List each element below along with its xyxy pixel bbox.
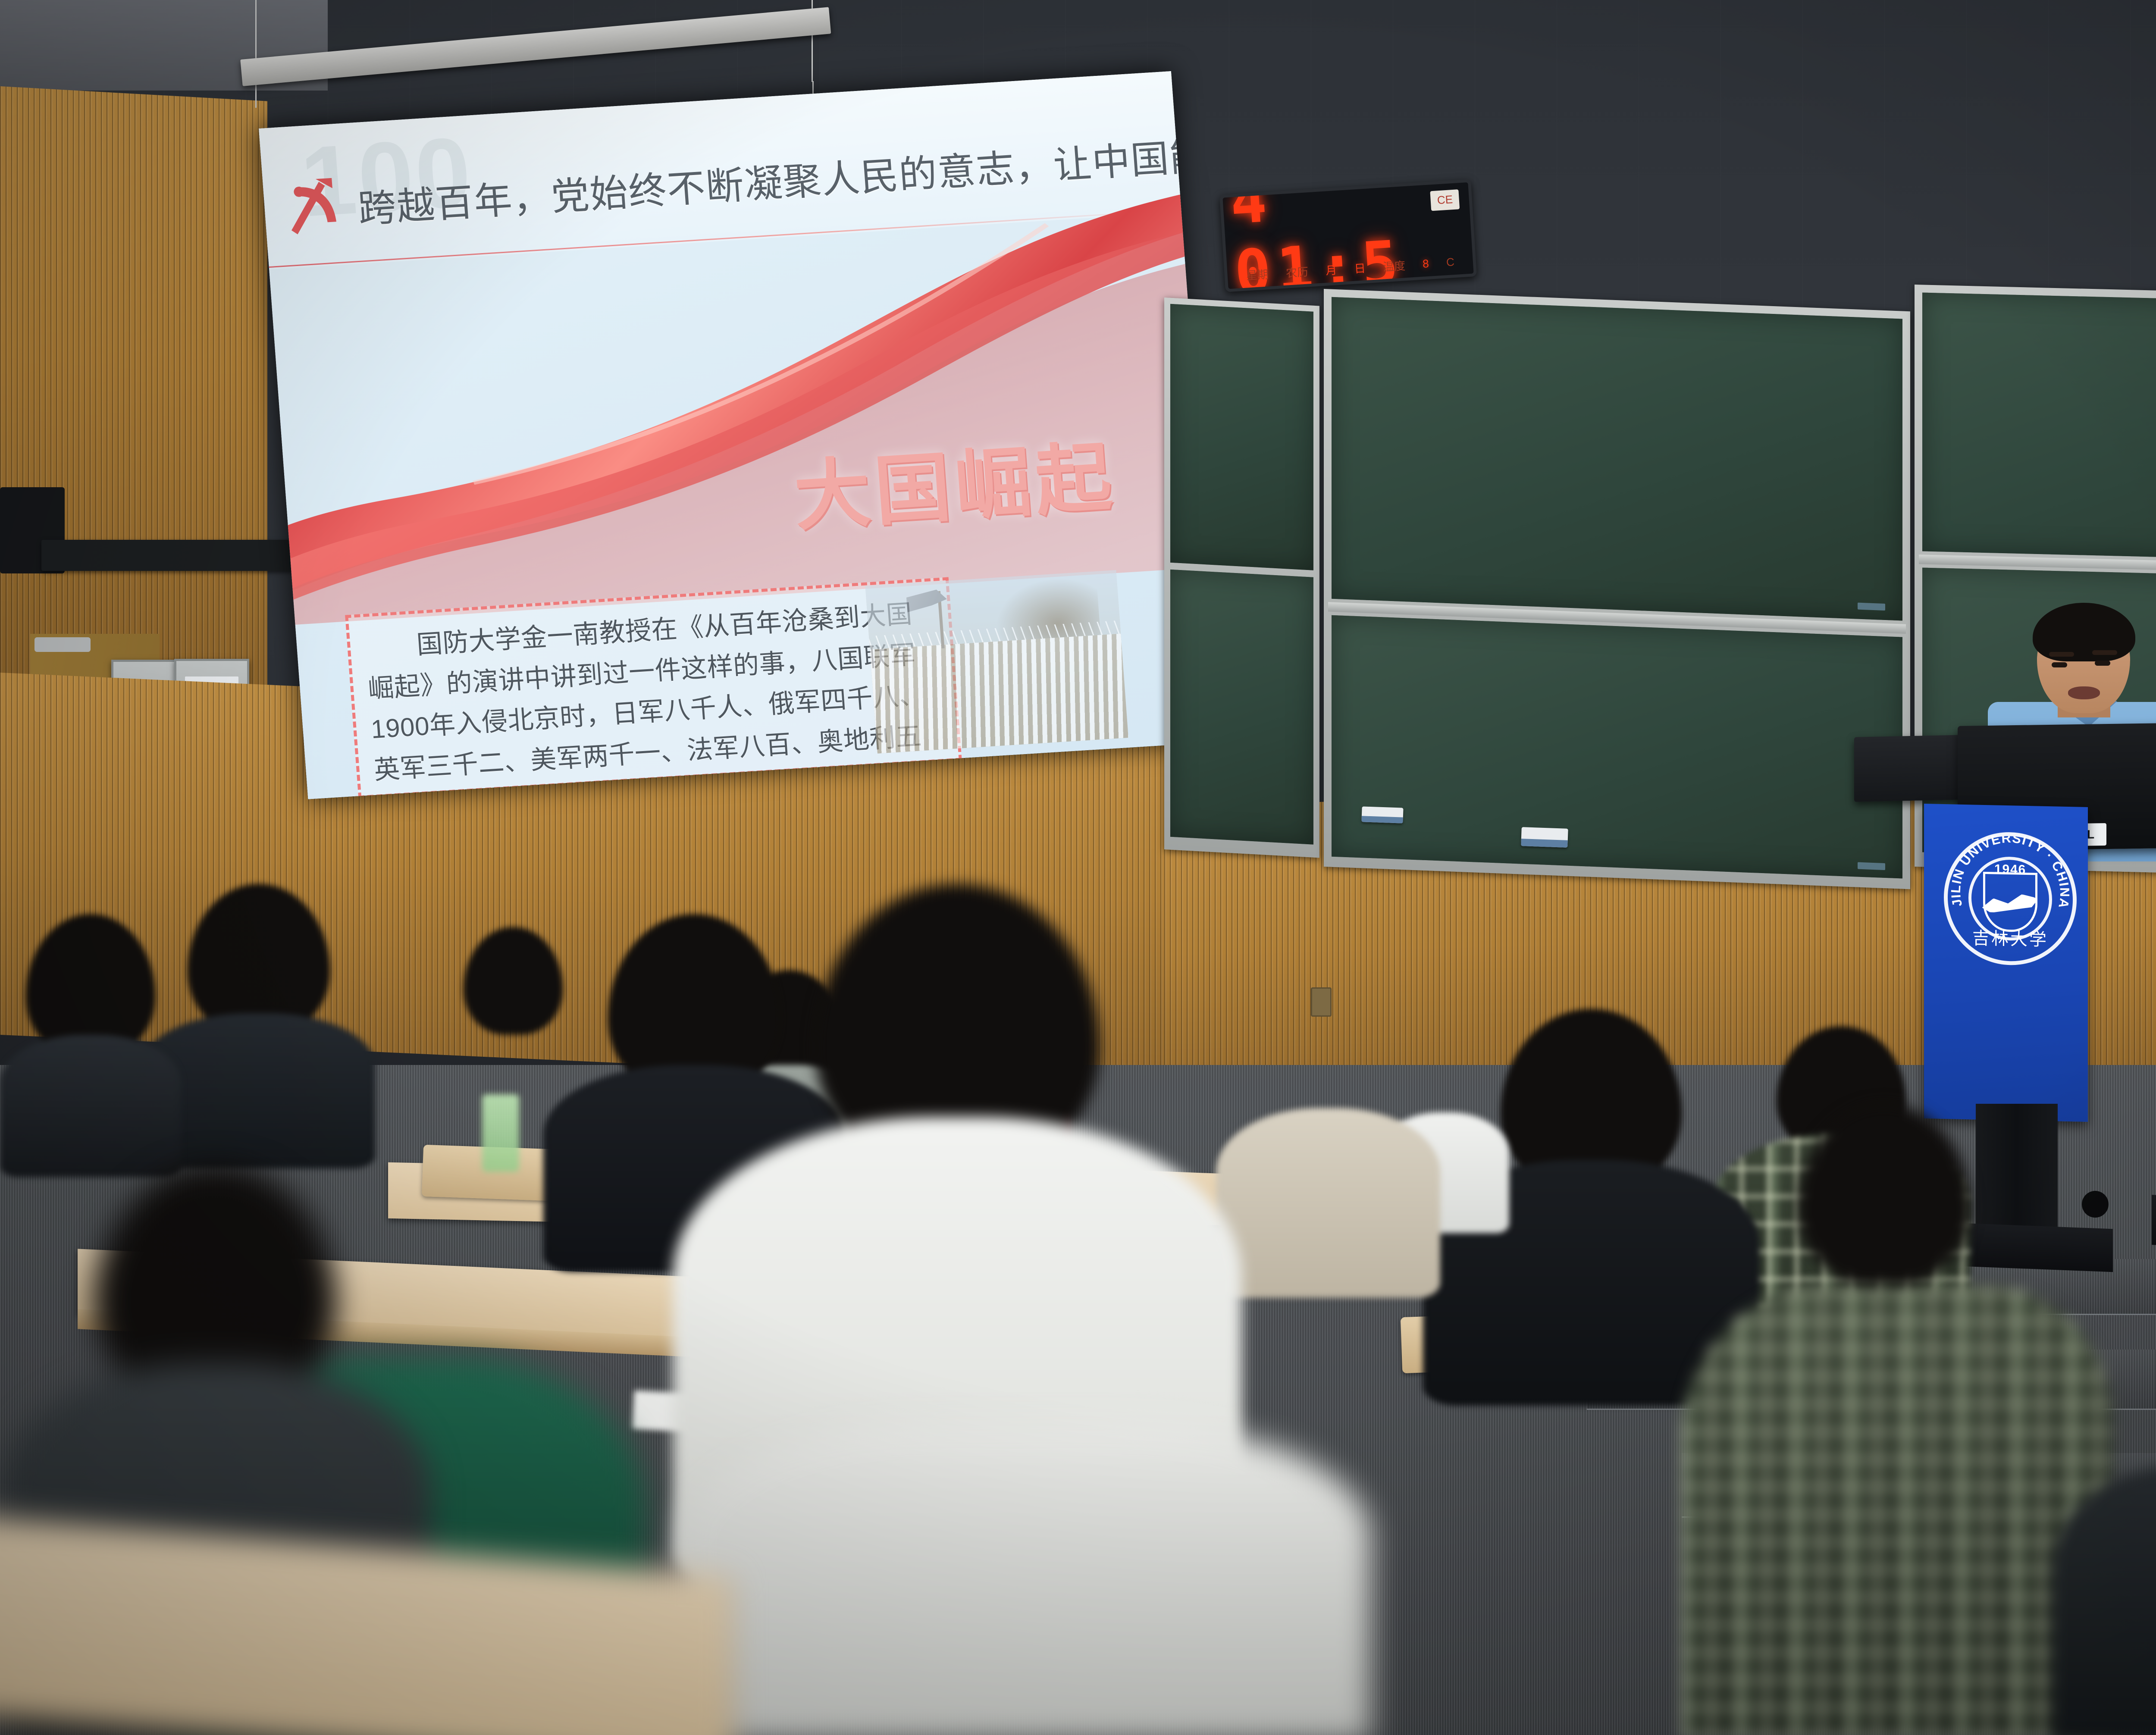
clock-temp-value: 8	[1422, 257, 1429, 271]
clock-temp-label: 温度	[1382, 257, 1406, 275]
student-green-plaid	[1682, 1285, 2113, 1735]
presenter-brow-right	[2092, 650, 2117, 655]
digital-wall-clock: 4 01:5 星期 农历 月 日 温度 8 C CE	[1219, 179, 1477, 292]
blackboard-eraser-2[interactable]	[1361, 806, 1403, 823]
student-head	[188, 884, 330, 1035]
left-wood-soffit	[0, 86, 267, 696]
student-body	[0, 1035, 181, 1177]
seal-arc-text: JILIN UNIVERSITY · CHINA	[1948, 835, 2073, 962]
student-head	[464, 927, 563, 1035]
projection-screen: 100 跨越百年，党始终不断凝聚人民的意志，让中国能够无往不胜	[259, 71, 1220, 799]
student-foreground-light-hoodie	[681, 1423, 1371, 1735]
podium-caster-right	[2082, 1191, 2109, 1218]
seal-arc-label: JILIN UNIVERSITY · CHINA	[1949, 835, 2072, 910]
student-head	[1798, 1104, 1971, 1285]
student-row2-left-b	[0, 914, 181, 1173]
blackboard-panel-left-top	[1170, 304, 1313, 570]
blackboard-panel-center-top[interactable]	[1332, 297, 1902, 621]
presenter-mouth	[2068, 686, 2100, 699]
blackboard-panel-center-bottom[interactable]	[1332, 615, 1902, 879]
student-body	[2053, 1466, 2156, 1735]
presenter-brow-left	[2049, 652, 2074, 657]
student-plaid-head	[1794, 1104, 1975, 1289]
door-closer	[34, 637, 91, 652]
wall-outlet[interactable]	[1311, 987, 1332, 1017]
clock-day-label: 日	[1354, 260, 1366, 277]
screen-cord-left	[255, 0, 257, 108]
student-beige-hoodie	[1216, 1091, 1440, 1298]
clock-temp-unit: C	[1446, 256, 1455, 269]
student-body	[1216, 1108, 1440, 1298]
blackboard-panel-left-bottom	[1170, 570, 1313, 845]
slide-historical-photo	[865, 570, 1128, 754]
blackboard-eraser[interactable]	[1521, 827, 1568, 848]
student-body	[681, 1423, 1371, 1735]
blackboard-sticker-a	[1858, 603, 1885, 611]
clock-lunar-label: 农历	[1285, 263, 1309, 281]
lecture-hall-photo: 正在考试 请勿打扰 100	[0, 0, 2156, 1735]
clock-month-label: 月	[1325, 262, 1337, 279]
presenter-eye-left	[2052, 662, 2067, 667]
university-seal: 1946 吉林大学 JILIN UNIVERSITY · CHINA	[1944, 831, 2077, 966]
water-bottle[interactable]	[482, 1094, 519, 1172]
slide-title-text: 大国崛起	[790, 415, 1119, 545]
slide-canvas: 100 跨越百年，党始终不断凝聚人民的意志，让中国能够无往不胜	[259, 71, 1220, 799]
student-far-left-head	[457, 927, 569, 1056]
blackboard-panel-right-top[interactable]	[1922, 292, 2156, 564]
blackboard-frame-left	[1164, 298, 1319, 858]
clock-sticker: CE	[1430, 189, 1460, 211]
blackboard-sticker-b	[1858, 862, 1885, 870]
blackboard-frame-center	[1324, 289, 1910, 889]
hammer-and-sickle-icon	[273, 150, 353, 259]
presenter-eye-right	[2095, 661, 2110, 666]
clock-week-label: 星期	[1246, 266, 1269, 283]
student-right-dark	[2053, 1466, 2156, 1735]
svg-text:JILIN UNIVERSITY · CHINA: JILIN UNIVERSITY · CHINA	[1949, 835, 2072, 910]
